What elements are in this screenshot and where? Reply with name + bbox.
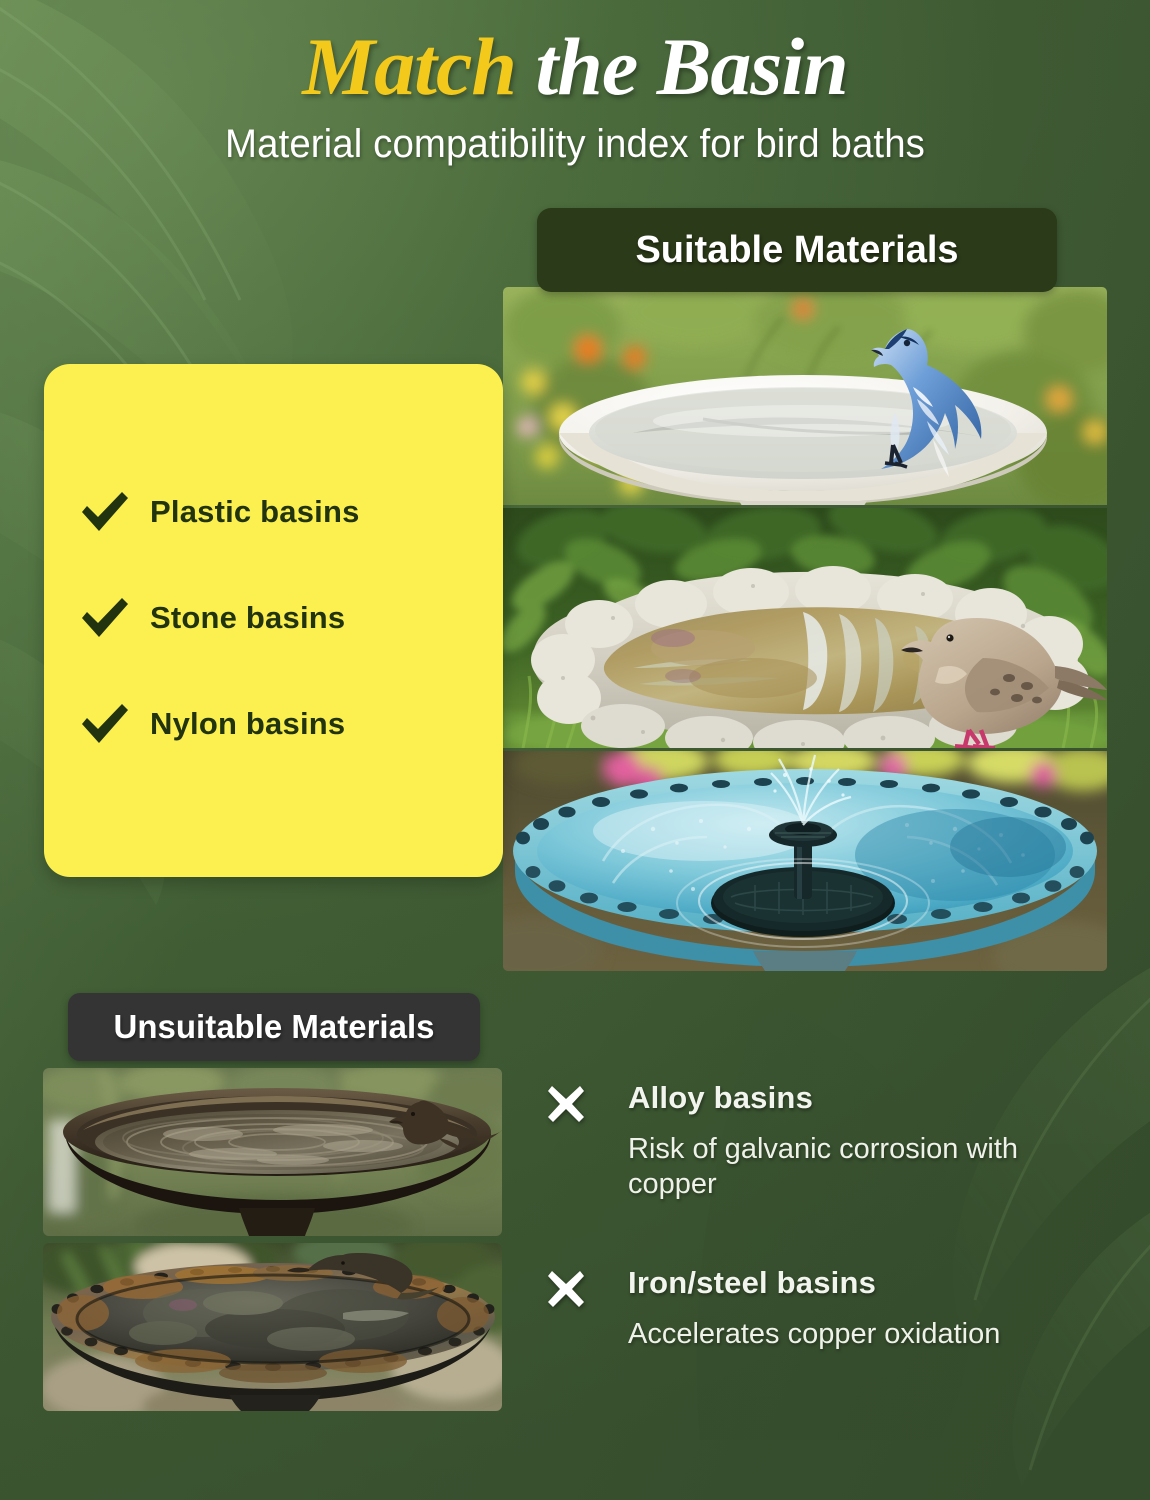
list-item: Plastic basins (44, 459, 503, 565)
page-title-rest: the Basin (535, 21, 847, 112)
photo-teal-glass-birdbath-solar-fountain (503, 751, 1107, 971)
suitable-materials-header: Suitable Materials (537, 208, 1057, 292)
list-item: Iron/steel basins Accelerates copper oxi… (540, 1265, 1140, 1352)
photo-rusted-iron-steel-birdbath (43, 1243, 502, 1411)
list-item-label: Plastic basins (136, 494, 360, 530)
check-icon (74, 702, 136, 746)
unsuitable-materials-header: Unsuitable Materials (68, 993, 480, 1061)
page-title: Match the Basin (0, 0, 1150, 108)
photo-dark-bronze-alloy-birdbath (43, 1068, 502, 1236)
list-item-label: Nylon basins (136, 706, 345, 742)
suitable-materials-card: Plastic basins Stone basins Nylon basins (44, 364, 503, 877)
list-item-description: Accelerates copper oxidation (628, 1317, 1098, 1352)
list-item: Nylon basins (44, 671, 503, 777)
list-item-title: Iron/steel basins (628, 1265, 1140, 1301)
page-subtitle: Material compatibility index for bird ba… (23, 108, 1127, 167)
x-icon (544, 1267, 588, 1311)
check-icon (74, 490, 136, 534)
page-header: Match the Basin Material compatibility i… (0, 0, 1150, 167)
x-icon (544, 1082, 588, 1126)
list-item-label: Stone basins (136, 600, 345, 636)
list-item: Stone basins (44, 565, 503, 671)
list-item: Alloy basins Risk of galvanic corrosion … (540, 1080, 1140, 1203)
photo-dove-on-scalloped-stone-birdbath (503, 508, 1107, 748)
check-icon (74, 596, 136, 640)
unsuitable-materials-list: Alloy basins Risk of galvanic corrosion … (540, 1080, 1140, 1352)
photo-blue-jay-on-white-ceramic-birdbath (503, 287, 1107, 505)
page-title-highlight: Match (302, 21, 516, 112)
list-item-title: Alloy basins (628, 1080, 1140, 1116)
list-item-description: Risk of galvanic corrosion with copper (628, 1132, 1098, 1203)
